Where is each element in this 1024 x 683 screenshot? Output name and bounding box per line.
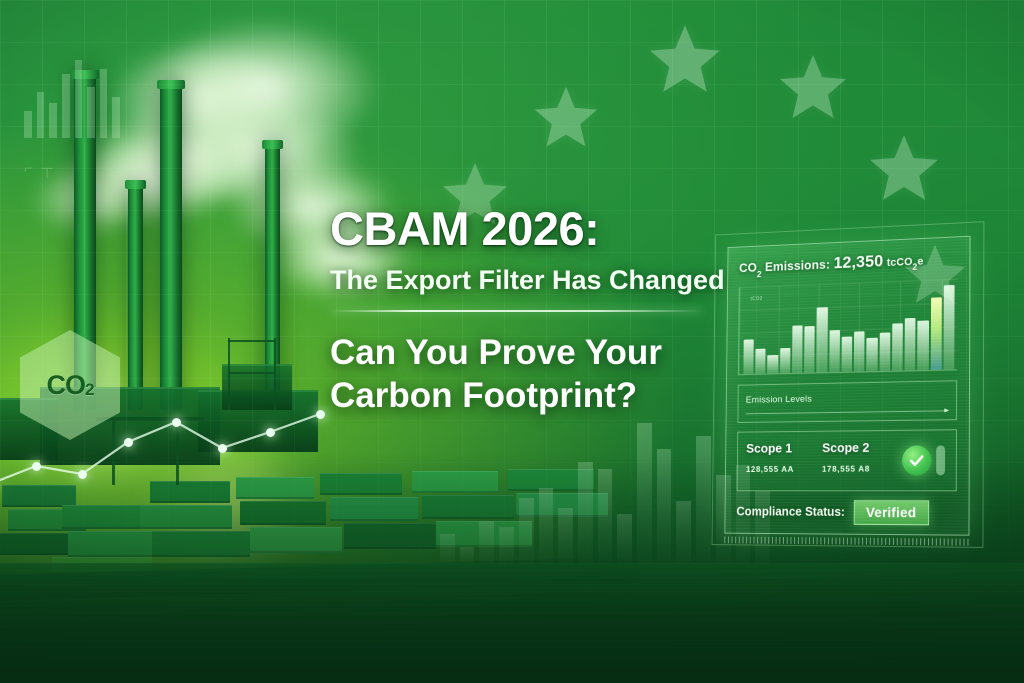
panel-content: CO2 Emissions: 12,350 tcCO2e tCO2 Emissi… [724,236,970,536]
line-chart-node [32,462,41,471]
co2-badge-text: CO [47,370,86,401]
headline-block: CBAM 2026: The Export Filter Has Changed… [330,205,730,418]
chart-bar [905,318,916,370]
dashboard-header-rest: Emissions: [762,257,834,274]
chart-bar [943,285,954,370]
scope-metrics-box: Scope 1 128,555 AA Scope 2 178,555 A8 [737,429,957,491]
status-badge[interactable]: Verified [853,500,929,525]
arrow-right-icon [746,410,949,414]
chart-bar [743,339,754,373]
mini-bar-chart [24,60,120,138]
cbam-hero-banner: ⌐┬ CO2 CBAM 2026: The Export Filter Has … [0,0,1024,683]
chart-bar [829,330,840,372]
mini-chart-bar [112,97,120,138]
headline-subtitle: The Export Filter Has Changed [330,264,730,296]
unit-post: e [917,256,923,268]
line-chart-node [316,410,325,419]
compliance-status-label: Compliance Status: [736,505,845,519]
chart-bar [817,307,828,372]
dashboard-emissions-value: 12,350 [833,252,883,273]
headline-question: Can You Prove Your Carbon Footprint? [330,332,730,417]
emission-levels-label: Emission Levels [746,393,812,405]
scope-2-label: Scope 2 [822,439,892,454]
emissions-bar-chart[interactable]: tCO2 [738,278,958,374]
scope-2-value: 178,555 A8 [822,463,892,473]
mini-chart-bar [49,103,57,138]
verification-indicator [891,430,956,490]
co2-badge-subscript: 2 [85,380,93,400]
status-pill [936,445,945,475]
page-title: CBAM 2026: [330,205,730,254]
mini-chart-bar [100,69,108,138]
headline-question-line2: Carbon Footprint? [330,376,637,415]
check-circle-icon [902,445,931,475]
scope-2-metric: Scope 2 178,555 A8 [813,431,891,490]
headline-divider [330,310,702,312]
chart-bar [768,355,778,373]
emission-levels-box: Emission Levels [737,380,957,423]
mini-chart-bar [75,60,83,138]
chart-bar [854,331,865,371]
chart-bar [841,336,852,371]
emissions-dashboard-panel[interactable]: CO2 Emissions: 12,350 tcCO2e tCO2 Emissi… [724,236,970,536]
chart-bar [780,348,791,373]
line-chart-node [78,470,87,479]
chart-bar [879,332,890,371]
co2-hexagon-icon: CO2 [20,330,120,440]
scope-1-label: Scope 1 [746,440,814,455]
decorative-glyphs: ⌐┬ [24,160,61,177]
headline-question-line1: Can You Prove Your [330,333,662,372]
dashboard-emissions-unit: tcCO2e [887,256,924,269]
scope-1-value: 128,555 AA [746,464,814,474]
compliance-status-row: Compliance Status: Verified [736,500,956,526]
scope-1-metric: Scope 1 128,555 AA [738,431,814,490]
chart-bar [892,323,903,370]
dashboard-header-co2: CO [739,260,757,275]
unit-pre: tcCO [887,256,913,269]
mini-chart-bar [24,111,32,138]
dashboard-header-sub: 2 [757,269,762,279]
chart-bars [743,285,954,374]
line-chart-node [266,428,275,437]
chart-bar [755,349,766,374]
co2-badge-label: CO2 [20,330,120,440]
chart-bar [917,321,928,370]
chart-bar [930,297,941,370]
mini-chart-bar [62,74,70,138]
dashboard-header: CO2 Emissions: 12,350 tcCO2e [739,248,958,277]
unit-sub: 2 [912,262,917,272]
mini-chart-bar [37,92,45,138]
mini-chart-bar [87,87,95,138]
chart-bar [866,337,877,371]
chart-bar [792,326,803,373]
chart-bar [804,326,815,372]
line-chart-node [124,438,133,447]
line-chart-node [172,418,181,427]
line-chart-node [218,444,227,453]
